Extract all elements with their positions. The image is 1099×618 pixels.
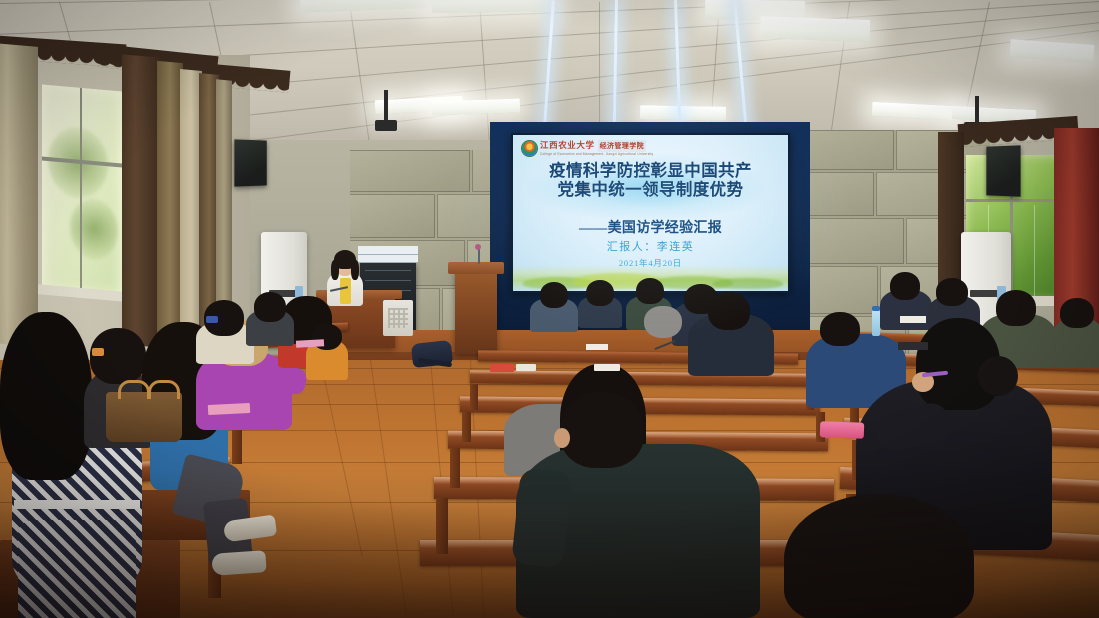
desk-notebook[interactable] <box>898 342 928 350</box>
audience-person-head <box>586 280 614 306</box>
lectern-microphone-icon <box>478 248 480 264</box>
left-window <box>42 85 122 297</box>
desk-notebook[interactable] <box>516 364 536 371</box>
audience-person-shoe <box>211 550 266 576</box>
audience-person-head <box>890 272 920 300</box>
desk-paper[interactable] <box>296 339 324 347</box>
projection-screen[interactable]: 江西农业大学 经济管理学院 College of Economics and M… <box>513 135 788 291</box>
ceiling-light-panel <box>432 0 552 13</box>
slide-title: 疫情科学防控彰显中国共产 党集中统一领导制度优势 <box>513 161 788 200</box>
slide-presenter: 汇报人：李连英 <box>513 238 788 254</box>
curtain-panel <box>0 43 38 347</box>
ceiling-light-panel <box>640 105 726 120</box>
audience-person-head <box>1060 298 1094 328</box>
ceiling-projector-head <box>375 120 397 131</box>
audience-person-head <box>254 292 286 322</box>
slide-title-line2: 党集中统一领导制度优势 <box>513 180 788 199</box>
hair-clip-icon <box>206 316 218 323</box>
audience-person-head <box>708 292 750 330</box>
slide-department-name: 经济管理学院 <box>598 140 646 152</box>
audience-person-hair <box>784 494 974 618</box>
ceiling-light-panel <box>1009 39 1094 63</box>
desk-paper[interactable] <box>586 344 608 350</box>
audience-person-hair-gray <box>644 306 682 338</box>
right-wall-speaker <box>986 145 1020 196</box>
curtain-panel <box>122 54 160 347</box>
audience-person-arm <box>511 468 573 569</box>
handbag-handle <box>118 380 150 399</box>
audience-person-head <box>936 278 968 306</box>
university-emblem-icon <box>522 141 537 156</box>
water-bottle-cap <box>872 306 880 311</box>
ceiling-light-panel <box>432 98 520 115</box>
pink-pouch[interactable] <box>820 421 865 439</box>
window-mullion <box>80 88 82 293</box>
center-lectern <box>455 270 497 354</box>
audience-person-head <box>560 392 644 468</box>
center-lectern-top <box>448 262 504 274</box>
handbag-handle <box>148 380 180 399</box>
presenter-hair <box>331 260 339 280</box>
audience-person-head <box>90 328 146 384</box>
audience-person-body <box>18 520 136 618</box>
ceiling-projector-mount <box>384 90 388 122</box>
desk-leg <box>450 448 460 488</box>
lectern-microphone-head <box>475 244 481 250</box>
audience-person-ear <box>554 428 570 448</box>
desk-leg <box>462 412 471 442</box>
slide-logo: 江西农业大学 经济管理学院 College of Economics and M… <box>522 140 653 156</box>
desk-leg <box>436 498 448 554</box>
audience-person-head <box>996 290 1036 326</box>
presenter-shirt <box>340 278 351 304</box>
audience-person-head <box>636 278 664 304</box>
audience-person-hair <box>0 312 92 480</box>
ceiling-light-panel <box>872 102 957 120</box>
audience-person-hairbun <box>978 356 1018 396</box>
desk-paper[interactable] <box>900 316 926 323</box>
lecture-hall-photo: 江西农业大学 经济管理学院 College of Economics and M… <box>0 0 1099 618</box>
audience-person-stripe <box>14 500 140 509</box>
desk-leg <box>470 384 478 410</box>
ceiling-light-panel <box>760 16 871 42</box>
desk-paper[interactable] <box>594 364 620 371</box>
slide-institution-name: 江西农业大学 <box>540 141 595 150</box>
presenter-hair <box>351 260 359 280</box>
audience-person-head <box>540 282 568 308</box>
ceiling-projector-mount <box>975 96 979 124</box>
hair-clip-icon <box>92 348 104 356</box>
podium-control-panel-grid <box>388 308 408 328</box>
desk-handbag[interactable] <box>106 392 182 442</box>
slide-title-line1: 疫情科学防控彰显中国共产 <box>513 161 788 180</box>
audience-person-head <box>820 312 860 346</box>
slide-institution-name-en: College of Economics and Management, Jia… <box>540 153 653 156</box>
slide-subtitle: ——美国访学经验汇报 <box>513 217 788 237</box>
left-wall-speaker <box>234 139 266 186</box>
desk-notebook[interactable] <box>490 364 514 372</box>
water-bottle[interactable] <box>872 310 880 336</box>
ceiling-light-panel <box>300 0 431 12</box>
